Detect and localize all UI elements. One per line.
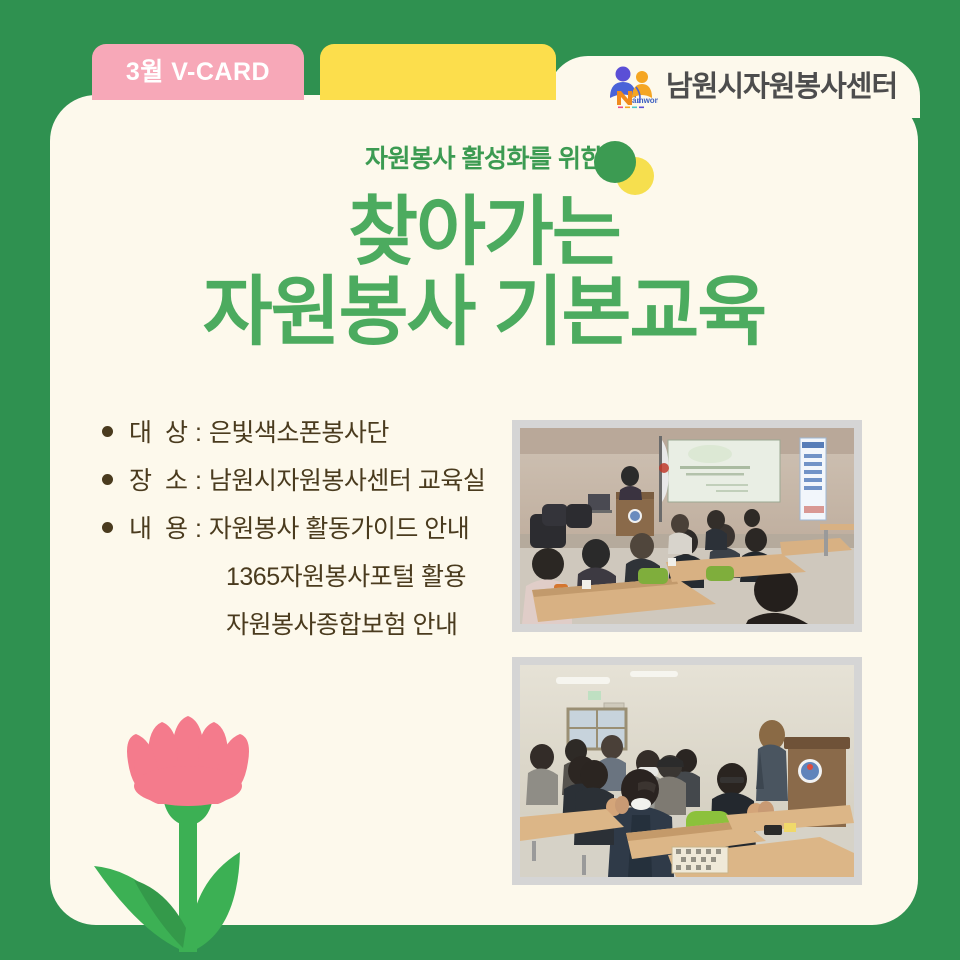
blank-tab[interactable]: [320, 44, 556, 100]
org-logo-bar: amwon 남원시자원봉사센터: [548, 56, 920, 118]
photo-image: [520, 428, 854, 624]
bullet-icon: [102, 522, 113, 533]
month-tab[interactable]: 3월 V-CARD: [92, 44, 304, 100]
info-value: 남원시자원봉사센터 교육실: [209, 461, 485, 497]
green-circle-dot-icon: [594, 141, 636, 183]
subtitle: 자원봉사 활성화를 위한: [365, 147, 603, 172]
two-people-namwon-logo-icon: amwon: [606, 65, 658, 109]
info-separator: :: [195, 467, 202, 496]
headline-block: 자원봉사 활성화를 위한 찾아가는 자원봉사 기본교육: [50, 95, 918, 351]
info-value: 은빛색소폰봉사단: [209, 413, 389, 449]
svg-text:amwon: amwon: [632, 96, 658, 105]
info-value: 자원봉사 활동가이드 안내: [209, 509, 469, 545]
info-row-target: 대 상 : 은빛색소폰봉사단: [102, 413, 532, 449]
pink-tulip-illustration: [78, 700, 298, 960]
title-line-2: 자원봉사 기본교육: [50, 274, 918, 352]
info-key: 내 용: [129, 509, 191, 545]
title-line-1: 찾아가는: [50, 194, 918, 272]
info-row-content: 내 용 : 자원봉사 활동가이드 안내: [102, 509, 532, 545]
month-tab-label: 3월 V-CARD: [126, 60, 270, 85]
info-content-line-2: 1365자원봉사포털 활용: [226, 557, 532, 593]
poster-root: 자원봉사 활성화를 위한 찾아가는 자원봉사 기본교육 대 상 : 은빛색소폰봉…: [0, 0, 960, 960]
info-list: 대 상 : 은빛색소폰봉사단 장 소 : 남원시자원봉사센터 교육실 내 용 :…: [102, 413, 532, 653]
info-key: 장 소: [129, 461, 191, 497]
photo-image: [520, 665, 854, 877]
info-row-place: 장 소 : 남원시자원봉사센터 교육실: [102, 461, 532, 497]
classroom-lecture-photo: [512, 420, 862, 632]
info-content-line-3: 자원봉사종합보험 안내: [226, 605, 532, 641]
info-separator: :: [195, 419, 202, 448]
decorative-dots: [590, 141, 664, 195]
info-key: 대 상: [129, 413, 191, 449]
info-separator: :: [195, 515, 202, 544]
bullet-icon: [102, 426, 113, 437]
participants-applause-photo: [512, 657, 862, 885]
org-name: 남원시자원봉사센터: [666, 73, 897, 102]
bullet-icon: [102, 474, 113, 485]
